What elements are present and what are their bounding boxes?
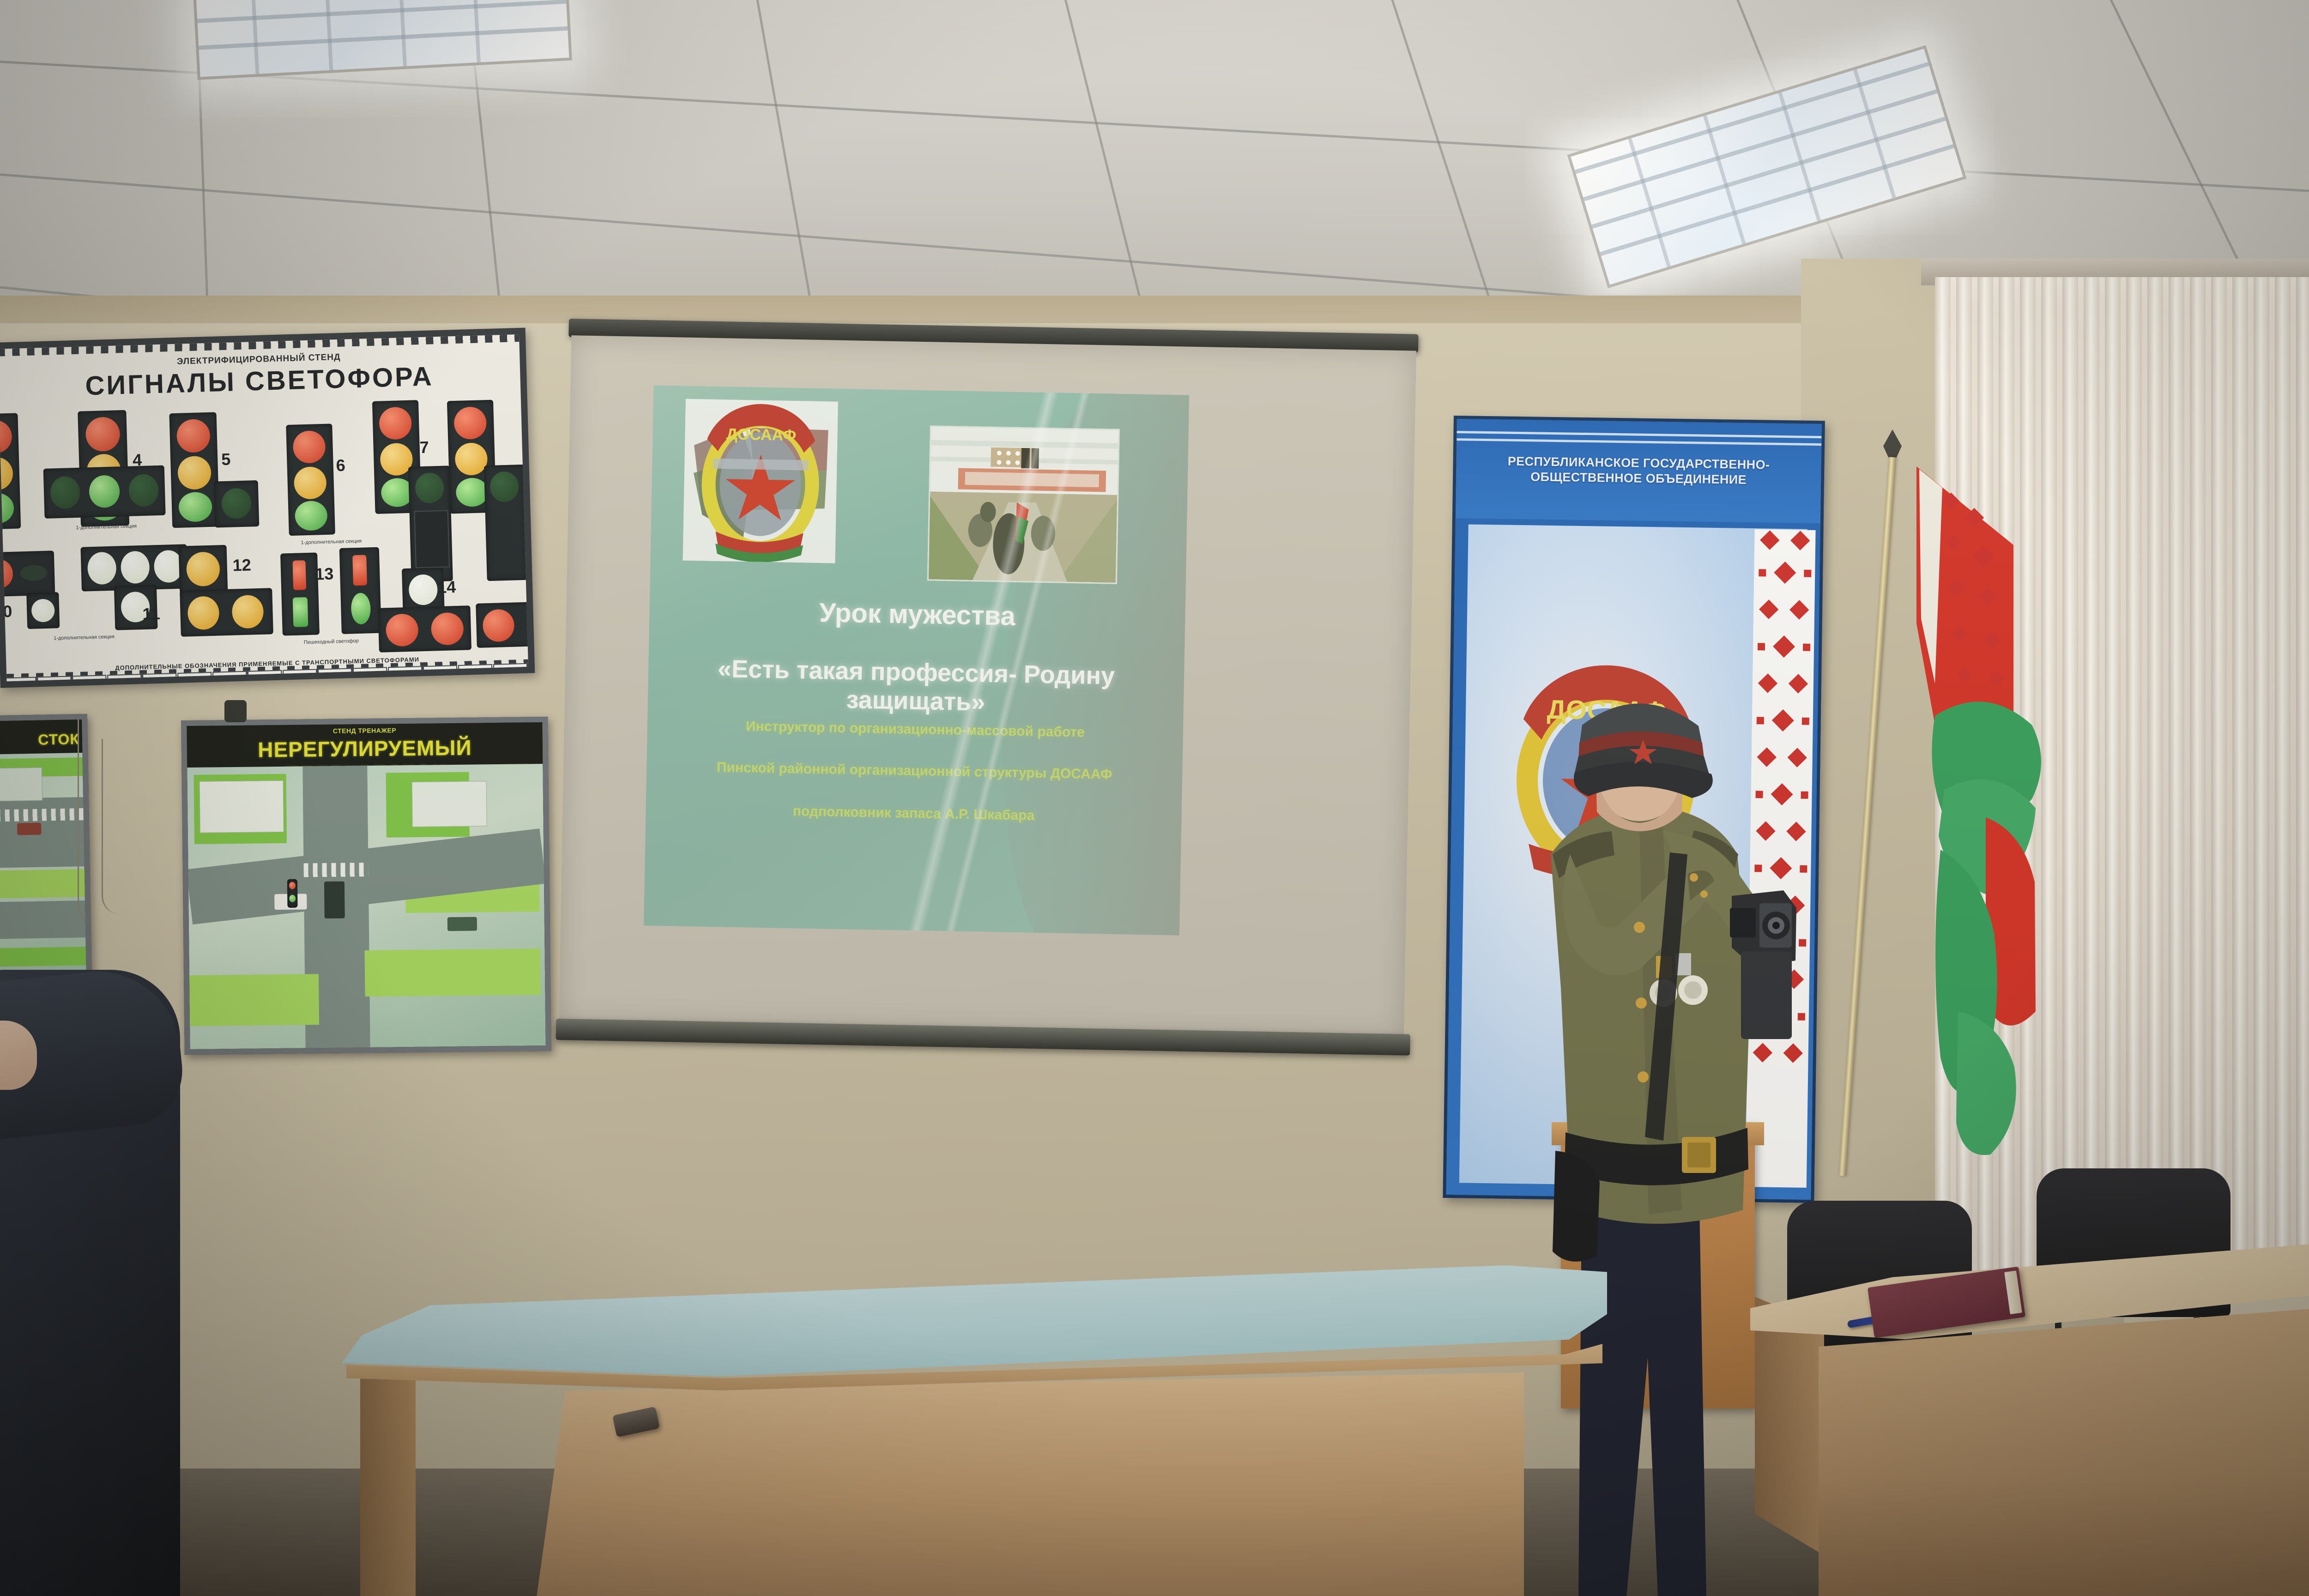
poster-intersection-main: СТЕНД ТРЕНАЖЕР НЕРЕГУЛИРУЕМЫЙ ПЕРЕКРЕСТО… (181, 717, 551, 1055)
podium-front-panel (536, 1372, 1524, 1596)
dosaaf-emblem: ДОСААФ (683, 399, 838, 563)
poster-caption: 1-дополнительная секция (273, 538, 389, 547)
emblem-text: ДОСААФ (726, 425, 796, 444)
poster-item-number: 12 (232, 555, 251, 575)
fluorescent-ceiling-panel (191, 0, 572, 80)
screen-surface: ДОСААФ (559, 335, 1416, 1039)
poster-header: РЕСПУБЛИКАНСКОЕ ГОСУДАРСТВЕННО-ОБЩЕСТВЕН… (1456, 419, 1822, 523)
classroom-photo: ЭЛЕКТРИФИЦИРОВАННЫЙ СТЕНД СИГНАЛЫ СВЕТОФ… (0, 0, 2309, 1596)
wooden-desk (1750, 1228, 2309, 1596)
poster-item-number: 5 (221, 450, 231, 470)
wall-cable (102, 739, 154, 914)
slide-subtitle: «Есть такая профессия- Родину защищать» (647, 653, 1184, 720)
poster-traffic-signals: ЭЛЕКТРИФИЦИРОВАННЫЙ СТЕНД СИГНАЛЫ СВЕТОФ… (0, 328, 535, 688)
projector-screen: ДОСААФ (555, 319, 1442, 1119)
fluorescent-ceiling-panel (1567, 45, 1967, 288)
notebook-page-edge (2004, 1270, 2022, 1314)
presentation-slide: ДОСААФ (644, 385, 1189, 935)
poster-item-number: 7 (419, 438, 429, 458)
poster-caption: 1-дополнительная секция (39, 522, 173, 532)
poster-item-number: 6 (336, 456, 345, 476)
person-in-dark-hoodie (0, 905, 212, 1596)
lectern-desk (342, 1265, 1616, 1596)
poster-title: РЕСПУБЛИКАНСКОЕ ГОСУДАРСТВЕННО-ОБЩЕСТВЕН… (1466, 453, 1811, 488)
screen-wall-hook (224, 700, 247, 722)
poster-item-number: 13 (315, 564, 334, 584)
slide-emblem-box: ДОСААФ (683, 399, 838, 563)
poster-item-number: 14 (437, 577, 456, 597)
podium-leg (360, 1376, 416, 1596)
poster-caption: 1-дополнительная секция (10, 633, 158, 643)
belarus-flag (1916, 466, 2069, 1178)
poster-item-number: 4 (133, 450, 142, 470)
desk-front-panel (1819, 1302, 2309, 1596)
poster-item-number: 11 (142, 604, 160, 624)
poster-item-number: 10 (0, 602, 12, 622)
poster-title-fragment: СТОК (38, 731, 79, 749)
poster-caption: Пешеходный светофор (273, 637, 389, 647)
desk-side-panel (1755, 1297, 1824, 1555)
